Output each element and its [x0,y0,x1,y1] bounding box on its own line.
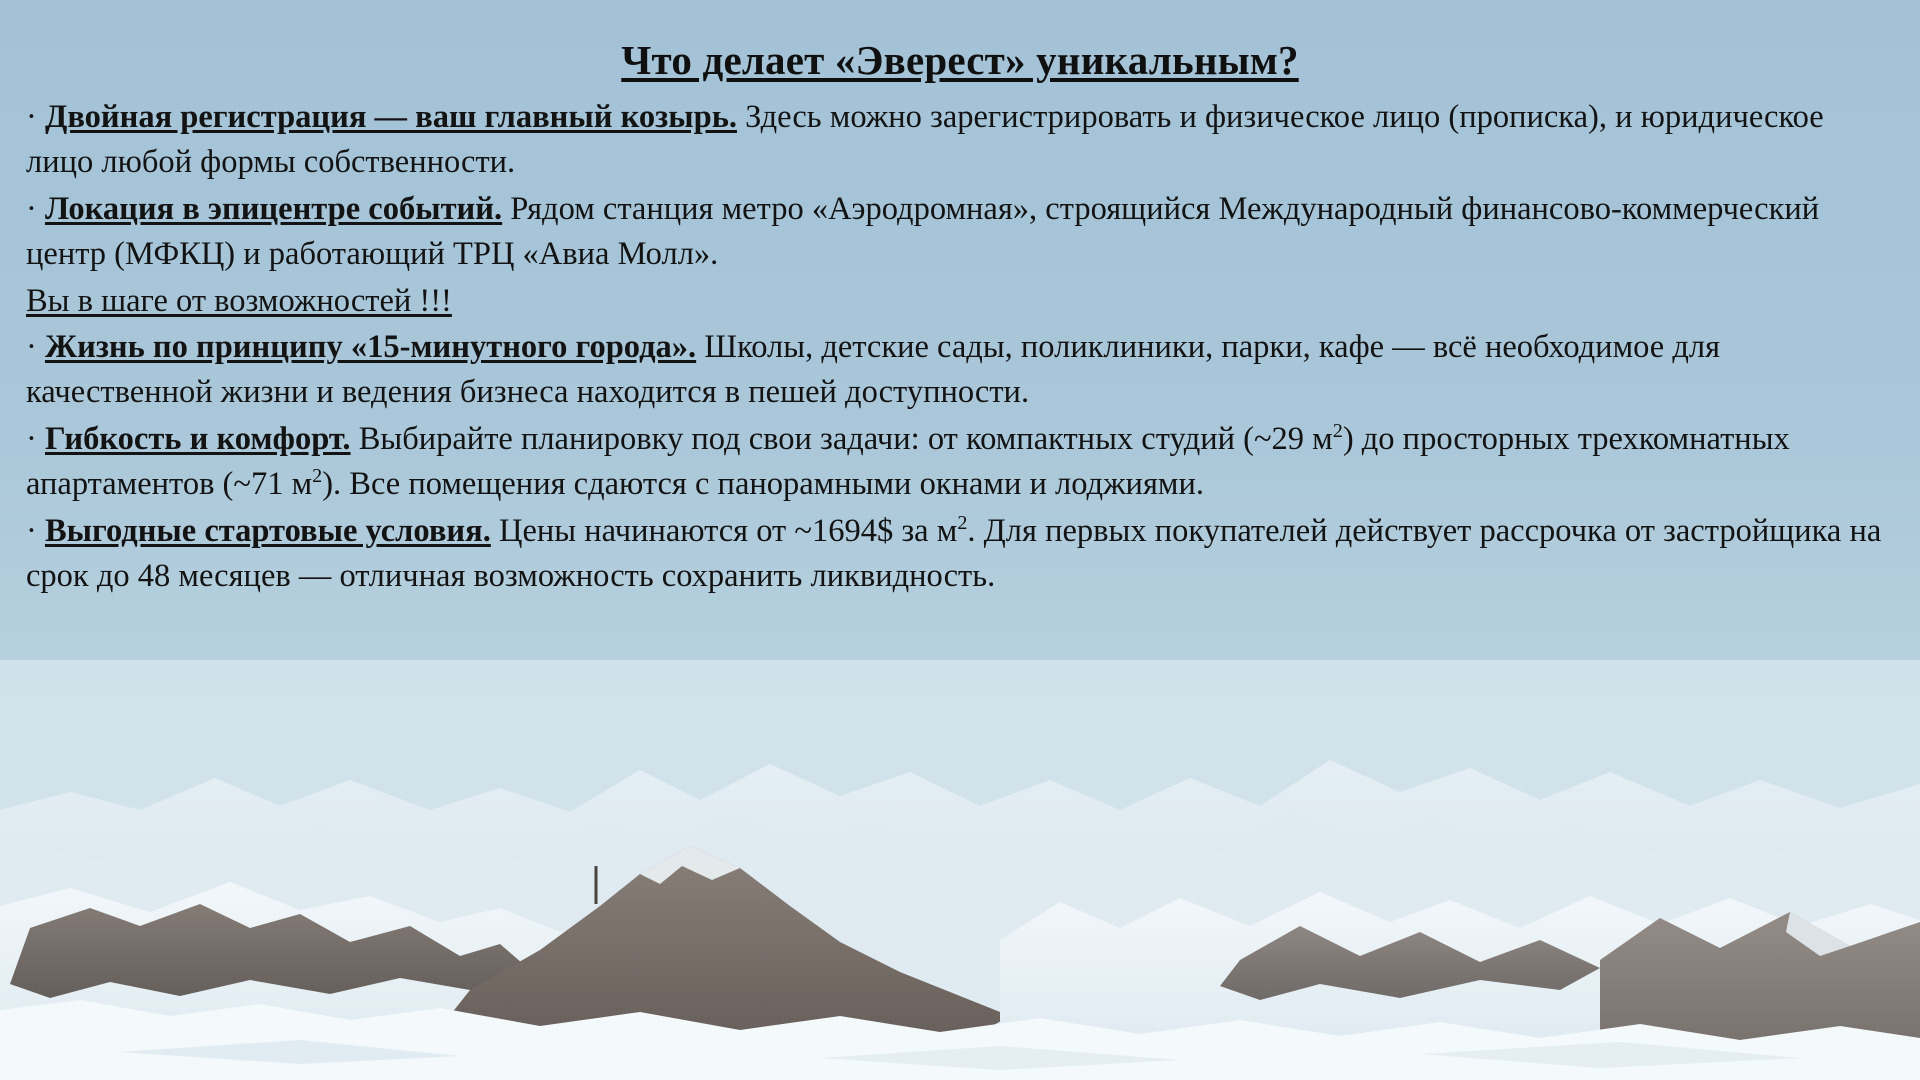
superscript-square-meters-three-room: 2 [312,465,322,487]
paragraph-dual-registration: · Двойная регистрация — ваш главный козы… [26,95,1894,185]
bullet-marker: · [26,99,37,135]
paragraph-opportunity-callout: Вы в шаге от возможностей !!! [26,279,1894,324]
paragraph-starting-conditions: · Выгодные стартовые условия. Цены начин… [26,509,1894,599]
lead-flexibility-comfort: Гибкость и комфорт. [45,421,351,457]
text-flexibility-after: ). Все помещения сдаются с панорамными о… [322,466,1204,502]
body-text: · Двойная регистрация — ваш главный козы… [26,95,1894,598]
mountain-photo-background [0,660,1920,1080]
lead-dual-registration: Двойная регистрация — ваш главный козырь… [45,99,737,135]
lead-starting-conditions: Выгодные стартовые условия. [45,513,491,549]
paragraph-fifteen-minute-city: · Жизнь по принципу «15-минутного города… [26,325,1894,415]
paragraph-flexibility-comfort: · Гибкость и комфорт. Выбирайте планиров… [26,417,1894,507]
bullet-marker: · [26,329,37,365]
text-price-before-sup: Цены начинаются от ~1694$ за м [491,513,957,549]
presentation-slide: Что делает «Эверест» уникальным? · Двойн… [0,0,1920,1080]
bullet-marker: · [26,191,37,227]
bullet-marker: · [26,513,37,549]
bullet-marker: · [26,421,37,457]
superscript-square-meters-studio: 2 [1333,420,1343,442]
page-title: Что делает «Эверест» уникальным? [26,36,1894,85]
lead-location: Локация в эпицентре событий. [45,191,502,227]
superscript-square-meters-price: 2 [957,512,967,534]
text-flexibility-before-area1: Выбирайте планировку под свои задачи: от… [351,421,1333,457]
lead-fifteen-minute-city: Жизнь по принципу «15-минутного города». [45,329,696,365]
paragraph-location: · Локация в эпицентре событий. Рядом ста… [26,187,1894,277]
page-title-text: Что делает «Эверест» уникальным? [621,37,1298,83]
slide-content: Что делает «Эверест» уникальным? · Двойн… [0,0,1920,600]
text-opportunity-callout: Вы в шаге от возможностей !!! [26,283,452,319]
